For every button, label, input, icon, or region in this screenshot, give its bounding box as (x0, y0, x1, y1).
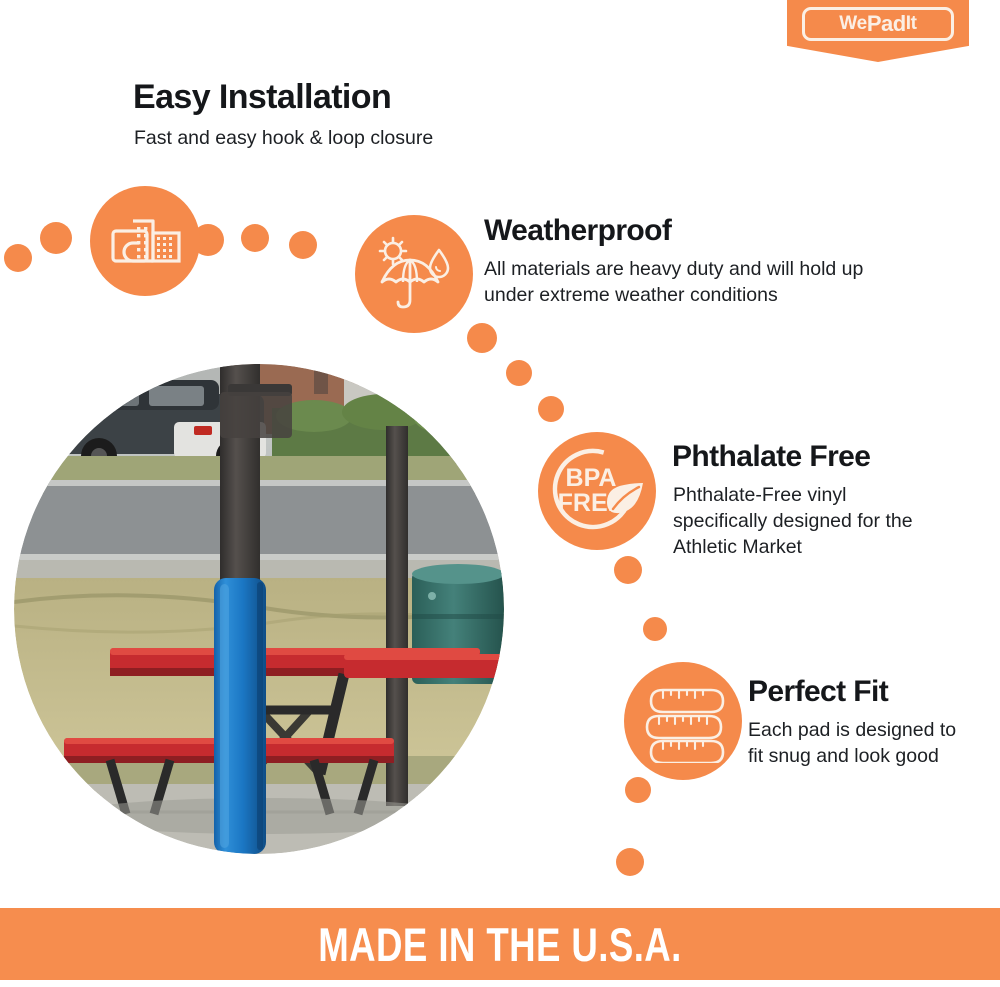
feature-title-weatherproof: Weatherproof (484, 214, 671, 248)
measuring-tape-icon (624, 662, 742, 780)
made-in-usa-text: MADE IN THE U.S.A. (318, 917, 681, 972)
brand-logo-frame: WePadIt (802, 7, 954, 41)
product-photo-pole-pad (14, 364, 504, 854)
feature-title-phthalate-free: Phthalate Free (672, 440, 870, 474)
path-dot (614, 556, 642, 584)
path-dot (289, 231, 317, 259)
path-dot (538, 396, 564, 422)
feature-description-weatherproof: All materials are heavy duty and will ho… (484, 257, 909, 309)
made-in-usa-banner: MADE IN THE U.S.A. (0, 908, 1000, 980)
path-dot (40, 222, 72, 254)
bpa-label-line1: BPA (566, 464, 617, 492)
path-dot (643, 617, 667, 641)
path-dot (4, 244, 32, 272)
logo-text-it: It (906, 13, 917, 35)
hook-and-loop-icon (90, 186, 200, 296)
feature-description-easy-installation: Fast and easy hook & loop closure (134, 126, 564, 152)
brand-logo-badge[interactable]: WePadIt (787, 0, 969, 62)
path-dot (625, 777, 651, 803)
blue-pole-pad (214, 578, 266, 854)
path-dot (616, 848, 644, 876)
feature-title-perfect-fit: Perfect Fit (748, 675, 888, 709)
path-dot (467, 323, 497, 353)
feature-description-perfect-fit: Each pad is designed to fit snug and loo… (748, 718, 976, 770)
bpa-free-leaf-icon: BPA FREE (538, 432, 656, 550)
feature-description-phthalate-free: Phthalate-Free vinyl specifically design… (673, 483, 935, 561)
logo-text-we: We (839, 13, 867, 35)
path-dot (241, 224, 269, 252)
logo-text-pad: Pad (867, 11, 906, 37)
path-dot (506, 360, 532, 386)
feature-title-easy-installation: Easy Installation (133, 78, 391, 117)
umbrella-sun-rain-icon (355, 215, 473, 333)
infographic-page: WePadIt Easy Installation Fast and easy … (0, 0, 1000, 987)
